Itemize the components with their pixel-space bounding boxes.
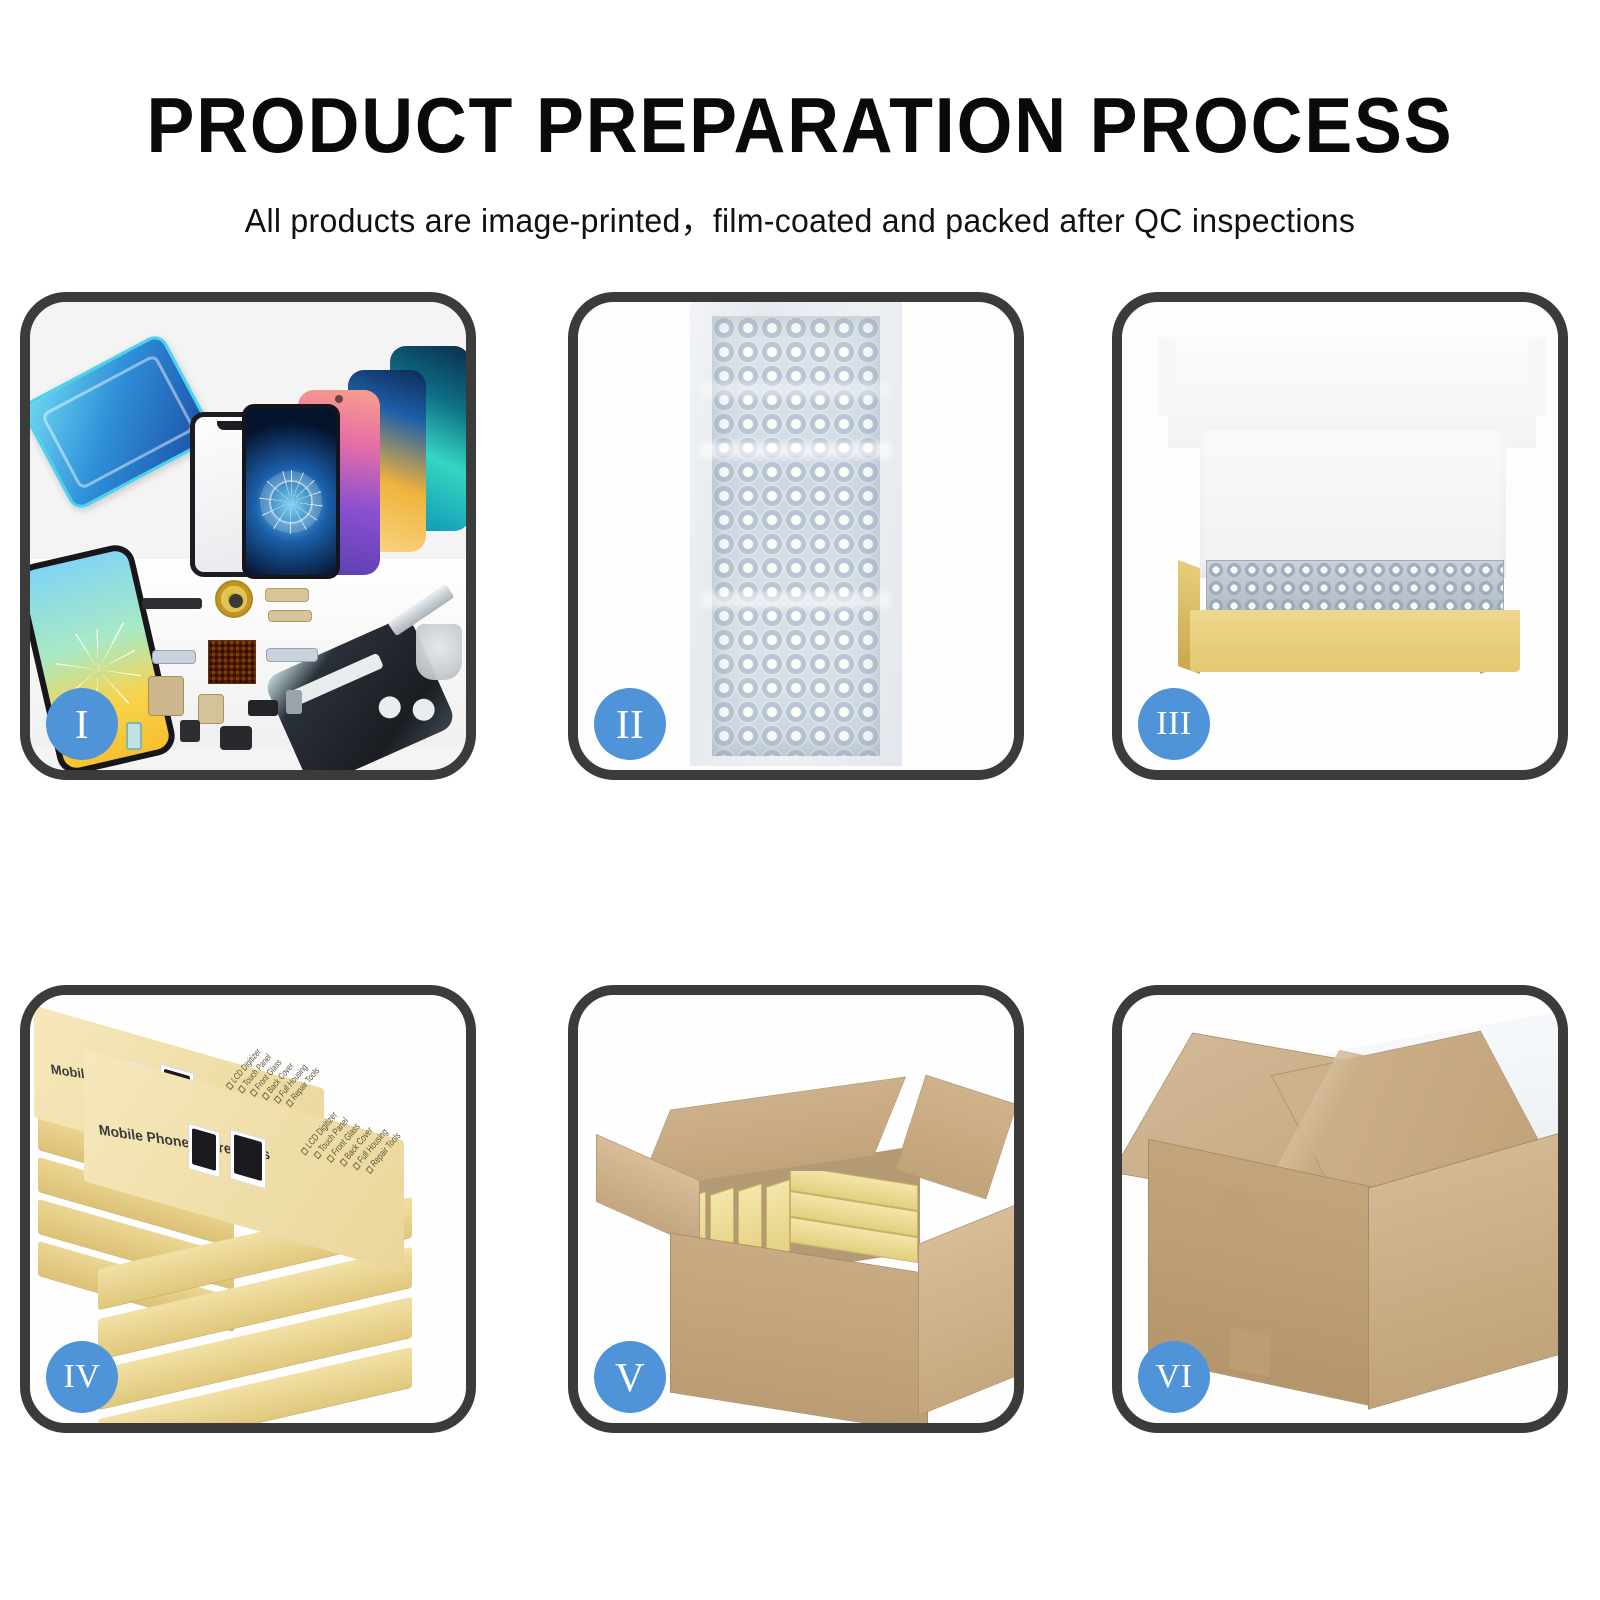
step-panel-2[interactable]: II <box>568 292 1024 780</box>
step-panel-6[interactable]: VI <box>1112 985 1568 1433</box>
step-badge-2: II <box>594 688 666 760</box>
step-panel-1[interactable]: I <box>20 292 476 780</box>
retail-box-thumb-front-2 <box>230 1129 266 1189</box>
plastic-sheen <box>701 442 891 458</box>
step-badge-6: VI <box>1138 1341 1210 1413</box>
vibrator-motor-icon <box>286 690 302 714</box>
retail-box-thumb-front-1 <box>188 1123 220 1178</box>
flex-cable-icon-6 <box>198 694 224 724</box>
poster-root: PRODUCT PREPARATION PROCESS All products… <box>0 0 1600 1600</box>
step-panel-4[interactable]: Mobile Phone Spare Parts LCD Digitizer T… <box>20 985 476 1433</box>
header: PRODUCT PREPARATION PROCESS All products… <box>0 0 1600 242</box>
flex-cable-icon-1 <box>265 588 309 602</box>
page-title: PRODUCT PREPARATION PROCESS <box>64 86 1536 164</box>
step-badge-3: III <box>1138 688 1210 760</box>
cleaning-brush-icon <box>416 624 462 680</box>
page-subtitle: All products are image-printed，film-coat… <box>24 194 1576 242</box>
carton-seal-label-bottom <box>1230 1327 1270 1378</box>
step-panel-5[interactable]: V <box>568 985 1024 1433</box>
earpiece-speaker-icon <box>142 598 202 609</box>
sim-tray-icon <box>126 722 142 750</box>
step-badge-1: I <box>46 688 118 760</box>
step-panel-3[interactable]: III <box>1112 292 1568 780</box>
flex-cable-icon-4 <box>266 648 318 662</box>
ic-chip-icon <box>208 640 256 684</box>
camera-module-icon <box>180 720 200 742</box>
wireless-charging-coil-icon <box>215 580 253 618</box>
carton-side-face <box>918 1202 1014 1416</box>
connector-icon <box>248 700 278 716</box>
flex-cable-icon-3 <box>152 650 196 664</box>
speaker-module-icon <box>220 726 252 750</box>
step-badge-5: V <box>594 1341 666 1413</box>
flex-cable-icon-2 <box>268 610 312 622</box>
flex-cable-icon-5 <box>148 676 184 716</box>
adhesive-film-icon <box>30 331 217 512</box>
bubble-grid-icon <box>712 316 880 756</box>
cracked-screen-icon <box>242 404 340 579</box>
box-back-panel-icon <box>1200 430 1506 578</box>
box-front-panel-icon <box>1190 610 1520 672</box>
step-badge-4: IV <box>46 1341 118 1413</box>
carton-seal-label-top <box>1218 1187 1260 1240</box>
